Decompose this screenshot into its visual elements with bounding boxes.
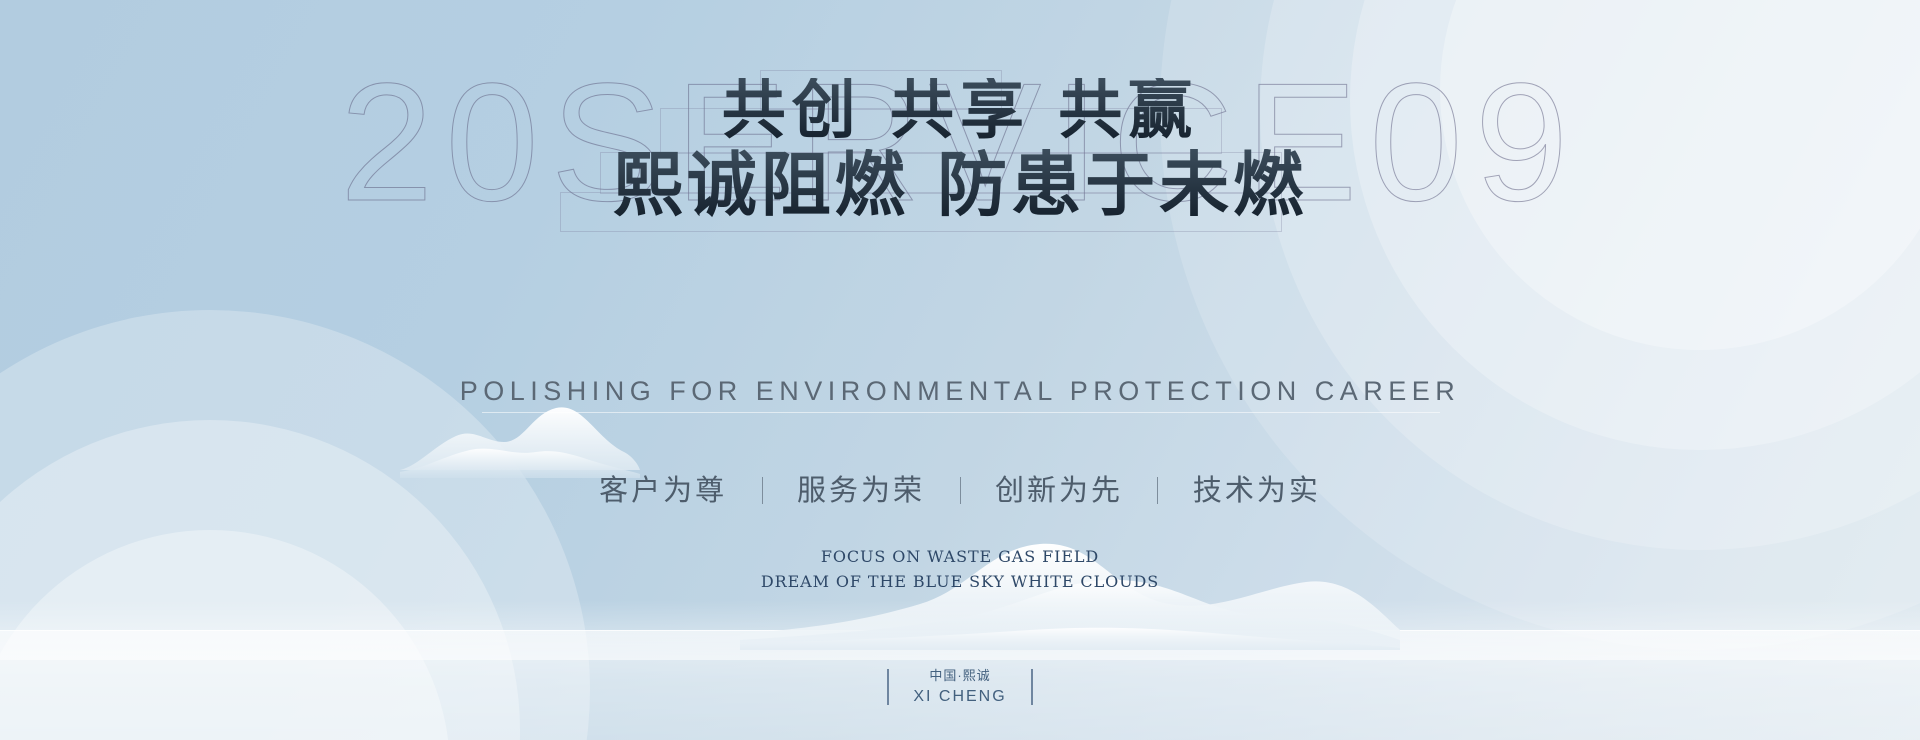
value-item-1: 客户为尊: [599, 475, 727, 507]
signature-english: XI CHENG: [913, 686, 1006, 708]
headline-line-1: 共创 共享 共赢: [0, 78, 1920, 143]
value-item-3: 创新为先: [995, 475, 1123, 507]
value-separator-3: [1157, 477, 1158, 504]
value-item-4: 技术为实: [1193, 475, 1321, 507]
brand-signature: 中国·熙诚 XI CHENG: [0, 666, 1920, 707]
signature-text: 中国·熙诚 XI CHENG: [913, 666, 1006, 707]
serif-subtitle-block: FOCUS ON WASTE GAS FIELD DREAM OF THE BL…: [0, 545, 1920, 595]
signature-bar-right: [1031, 669, 1033, 705]
headline-block: 共创 共享 共赢 熙诚阻燃 防患于未燃: [0, 78, 1920, 221]
floor-horizon-line: [0, 630, 1920, 631]
tagline-underline: [482, 412, 1440, 413]
promo-banner: 20SERVICE09: [0, 0, 1920, 740]
serif-subtitle-line-2: DREAM OF THE BLUE SKY WHITE CLOUDS: [0, 570, 1920, 595]
value-separator-1: [762, 477, 763, 504]
signature-chinese: 中国·熙诚: [913, 666, 1006, 686]
value-item-2: 服务为荣: [797, 475, 925, 507]
value-separator-2: [960, 477, 961, 504]
value-list: 客户为尊 服务为荣 创新为先 技术为实: [0, 467, 1920, 509]
signature-bar-left: [887, 669, 889, 705]
headline-line-2: 熙诚阻燃 防患于未燃: [0, 149, 1920, 220]
serif-subtitle-line-1: FOCUS ON WASTE GAS FIELD: [0, 545, 1920, 570]
english-tagline: POLISHING FOR ENVIRONMENTAL PROTECTION C…: [0, 376, 1920, 407]
